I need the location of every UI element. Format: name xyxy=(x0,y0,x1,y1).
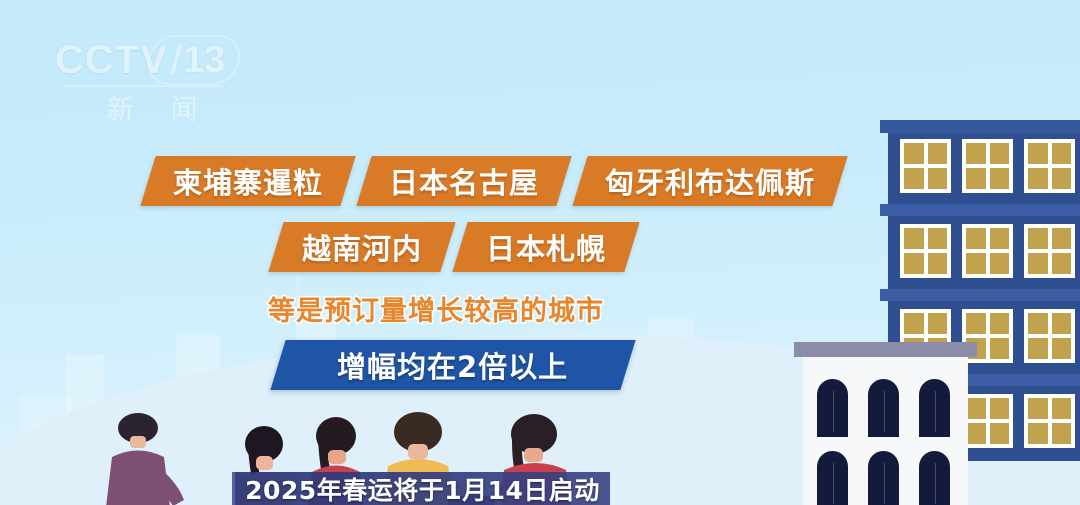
broadcast-frame: CCTV / 13 新 闻 xyxy=(0,0,1080,505)
highlight-tag-label: 增幅均在2倍以上 xyxy=(337,344,568,386)
lower-third-headline: 2025年春运将于1月14日启动 xyxy=(245,471,600,505)
city-tag-label: 日本札幌 xyxy=(486,226,606,268)
city-tag-label: 日本名古屋 xyxy=(389,160,539,202)
city-tag[interactable]: 柬埔寨暹粒 xyxy=(140,156,355,206)
highlight-tag[interactable]: 增幅均在2倍以上 xyxy=(270,340,635,390)
city-tag[interactable]: 越南河内 xyxy=(268,222,455,272)
city-tag-label: 柬埔寨暹粒 xyxy=(173,160,323,202)
graphic-tag-layer: 柬埔寨暹粒 日本名古屋 匈牙利布达佩斯 越南河内 日本札幌 等是预订量增长较高的… xyxy=(0,0,1080,505)
city-tag-label: 匈牙利布达佩斯 xyxy=(605,160,815,202)
city-tag[interactable]: 日本名古屋 xyxy=(356,156,571,206)
city-tag-label: 越南河内 xyxy=(302,226,422,268)
city-tag[interactable]: 日本札幌 xyxy=(452,222,639,272)
caption-line: 等是预订量增长较高的城市 xyxy=(268,289,604,328)
city-tag[interactable]: 匈牙利布达佩斯 xyxy=(572,156,847,206)
lower-third-banner: 2025年春运将于1月14日启动 xyxy=(232,472,610,505)
